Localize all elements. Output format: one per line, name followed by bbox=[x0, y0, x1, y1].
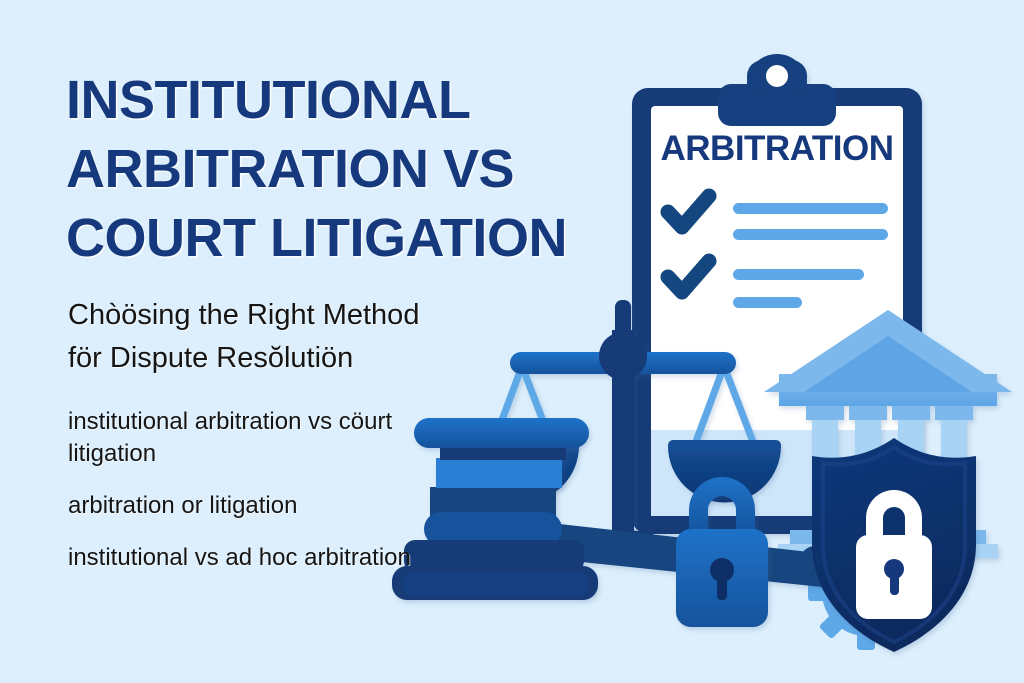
subtitle-line-2: för Dispute Resŏlutiön bbox=[68, 337, 538, 380]
clipboard-line-item bbox=[733, 203, 888, 214]
subtitle-line-1: Chòösing the Right Method bbox=[68, 294, 538, 337]
page-subtitle: Chòösing the Right Method för Dispute Re… bbox=[68, 294, 538, 380]
clipboard-line-item bbox=[733, 229, 888, 240]
keyword-item: institutional vs ad hoc arbitration bbox=[68, 542, 468, 574]
headline-line-1: INSTITUTIONAL bbox=[66, 66, 666, 135]
keyword-list: institutional arbitration vs cöurt litig… bbox=[68, 406, 468, 574]
headline-line-3: COURT LITIGATION bbox=[66, 204, 666, 273]
clipboard-clip-icon bbox=[718, 54, 836, 126]
infographic-banner: INSTITUTIONAL ARBITRATION VS COURT LITIG… bbox=[0, 0, 1024, 683]
keyword-item: arbitration or litigation bbox=[68, 490, 468, 522]
keyword-item: institutional arbitration vs cöurt litig… bbox=[68, 406, 468, 470]
clipboard-line-item bbox=[733, 269, 864, 280]
clipboard-title: ARBITRATION bbox=[651, 129, 903, 169]
page-title: INSTITUTIONAL ARBITRATION VS COURT LITIG… bbox=[66, 66, 666, 273]
clipboard-line-item bbox=[733, 297, 802, 308]
text-column: INSTITUTIONAL ARBITRATION VS COURT LITIG… bbox=[0, 0, 660, 683]
headline-line-2: ARBITRATION VS bbox=[66, 135, 666, 204]
